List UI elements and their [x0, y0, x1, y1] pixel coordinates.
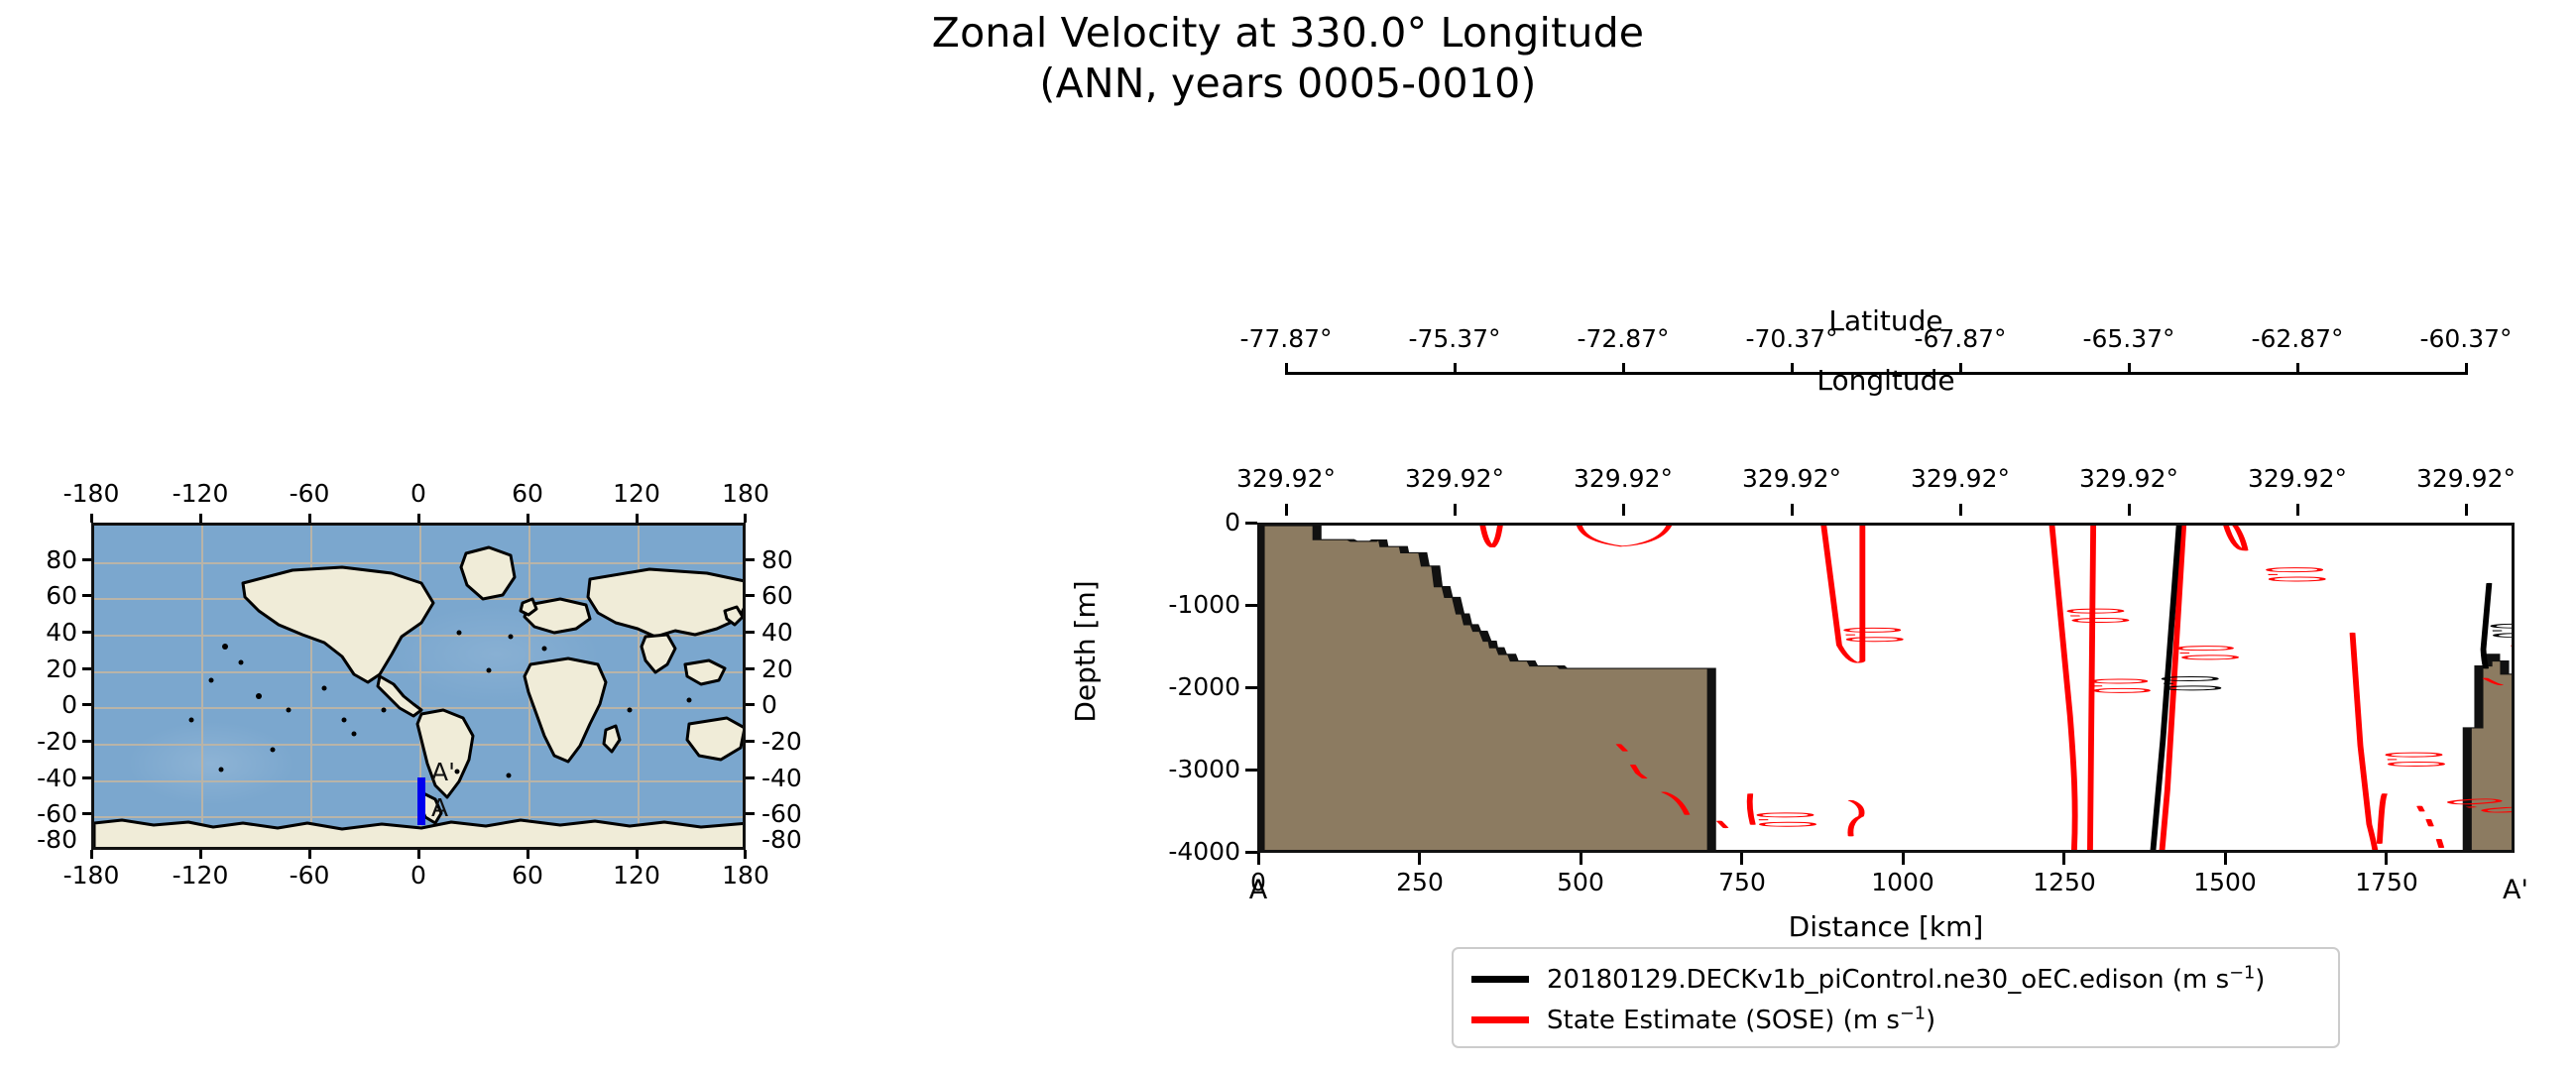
map-ytick-label-left: -80 — [0, 827, 77, 852]
map-ytick-label-left: 40 — [8, 620, 77, 645]
longitude-tick-label: 329.92° — [1216, 466, 1356, 491]
map-frame: A' A — [91, 523, 746, 850]
map-ytick-right — [746, 667, 755, 670]
map-ytick-label-left: 60 — [8, 583, 77, 608]
map-xtick-label-bottom: -180 — [37, 863, 146, 888]
transect-start-label: A — [431, 795, 448, 820]
map-ytick-right — [746, 703, 755, 706]
map-ytick-label-left: -20 — [0, 729, 77, 754]
map-ytick-label-left: -40 — [0, 766, 77, 790]
distance-tick — [1740, 853, 1743, 865]
map-ytick-label-left: -60 — [0, 801, 77, 826]
map-xtick-label-top: -180 — [37, 481, 146, 506]
map-xtick-top — [636, 514, 639, 523]
longitude-tick-label: 329.92° — [1890, 466, 2031, 491]
map-ytick-right — [746, 594, 755, 597]
legend-label-sose-exponent: −1 — [1900, 1004, 1926, 1023]
longitude-tick — [1454, 504, 1457, 516]
latitude-tick-label: -72.87° — [1553, 326, 1694, 351]
legend-label-model-exponent: −1 — [2229, 963, 2255, 983]
depth-tick-label: -1000 — [1107, 592, 1240, 617]
map-xtick-label-top: -120 — [146, 481, 255, 506]
map-xtick-bottom — [744, 850, 747, 859]
cross-section-plot: Latitude -77.87° -75.37° -72.87° -70.37°… — [1257, 523, 2515, 853]
longitude-tick — [1959, 504, 1962, 516]
contour-label: 0.0 — [2049, 608, 2146, 624]
distance-tick — [2224, 853, 2227, 865]
map-xtick-label-bottom: 180 — [691, 863, 800, 888]
map-ytick-label-right: 60 — [761, 583, 831, 608]
map-ytick-label-right: -80 — [761, 827, 831, 852]
map-xtick-bottom — [90, 850, 93, 859]
longitude-tick-label: 329.92° — [2396, 466, 2536, 491]
depth-tick — [1245, 686, 1257, 689]
contour-label: 0.0 — [2423, 796, 2515, 815]
page-title: Zonal Velocity at 330.0° Longitude (ANN,… — [0, 8, 2576, 109]
distance-tick — [1257, 853, 1260, 865]
map-ytick-label-right: 40 — [761, 620, 831, 645]
depth-tick — [1245, 522, 1257, 525]
map-ytick-left — [82, 776, 91, 779]
longitude-tick — [1285, 504, 1288, 516]
title-line-1: Zonal Velocity at 330.0° Longitude — [0, 8, 2576, 59]
section-axes-area: 0.0 0.0 0.0 0.0 0.0 0.0 0.0 0.0 0.0 0.0 … — [1257, 523, 2515, 853]
velocity-contours: 0.0 0.0 0.0 0.0 0.0 0.0 0.0 0.0 0.0 0.0 … — [1260, 526, 2515, 853]
map-ytick-label-right: 80 — [761, 547, 831, 572]
contour-label: 0.0 — [2158, 645, 2255, 660]
transect-line — [417, 777, 425, 825]
map-xtick-bottom — [636, 850, 639, 859]
distance-tick-label: 1000 — [1842, 870, 1963, 894]
map-ytick-right — [746, 631, 755, 634]
distance-tick-label: 500 — [1520, 870, 1641, 894]
depth-tick — [1245, 851, 1257, 854]
distance-tick — [2062, 853, 2065, 865]
contour-label: 0.0 — [2472, 623, 2515, 639]
legend-entry-model: 20180129.DECKv1b_piControl.ne30_oEC.edis… — [1471, 959, 2320, 1000]
distance-tick — [2385, 853, 2388, 865]
legend-label-model-suffix: ) — [2255, 965, 2265, 995]
latitude-tick-label: -67.87° — [1890, 326, 2031, 351]
contour-label: 0.0 — [2367, 752, 2460, 768]
map-xtick-label-bottom: 120 — [582, 863, 691, 888]
longitude-tick — [2465, 504, 2468, 516]
contour-label: 0.0 — [2248, 566, 2341, 582]
legend-label-sose-text: State Estimate (SOSE) (m s — [1547, 1006, 1900, 1035]
map-ytick-left — [82, 740, 91, 743]
distance-tick-label: 1500 — [2165, 870, 2285, 894]
legend-swatch-red — [1471, 1016, 1529, 1023]
map-xtick-label-bottom: -120 — [146, 863, 255, 888]
contour-labels: 0.0 0.0 0.0 0.0 0.0 0.0 0.0 0.0 0.0 0.0 … — [1738, 566, 2515, 827]
distance-tick — [1580, 853, 1582, 865]
distance-axis-title: Distance [km] — [1638, 912, 2134, 942]
contour-label: 0.0 — [2493, 643, 2515, 658]
map-xtick-label-top: 120 — [582, 481, 691, 506]
map-ytick-right — [746, 740, 755, 743]
world-map-inset: A' A -180 -120 -60 0 60 120 180 -180 -12… — [91, 523, 746, 850]
longitude-tick — [2296, 504, 2299, 516]
distance-tick — [1902, 853, 1905, 865]
map-ytick-left — [82, 594, 91, 597]
map-ytick-label-right: 0 — [761, 692, 831, 717]
distance-tick-label: 1250 — [2004, 870, 2125, 894]
latitude-tick-label: -62.87° — [2227, 326, 2368, 351]
title-line-2: (ANN, years 0005-0010) — [0, 59, 2576, 109]
legend-entry-sose: State Estimate (SOSE) (m s−1) — [1471, 1000, 2320, 1040]
map-xtick-label-top: -60 — [255, 481, 364, 506]
longitude-tick — [1791, 504, 1794, 516]
longitude-tick-label: 329.92° — [2227, 466, 2368, 491]
map-ytick-right — [746, 558, 755, 561]
distance-tick — [1418, 853, 1421, 865]
map-xtick-label-top: 60 — [473, 481, 582, 506]
map-xtick-top — [744, 514, 747, 523]
series-legend: 20180129.DECKv1b_piControl.ne30_oEC.edis… — [1452, 947, 2340, 1048]
longitude-axis-title: Longitude — [1638, 366, 2134, 396]
longitude-tick-label: 329.92° — [1553, 466, 1694, 491]
latitude-tick-label: -60.37° — [2396, 326, 2536, 351]
contour-label: 0.0 — [2144, 675, 2237, 691]
depth-tick — [1245, 604, 1257, 607]
longitude-tick — [2128, 504, 2131, 516]
contour-label: 0.0 — [1825, 627, 1919, 643]
map-ytick-label-right: 20 — [761, 656, 831, 681]
map-ytick-label-right: -60 — [761, 801, 831, 826]
map-ytick-left — [82, 667, 91, 670]
longitude-tick-label: 329.92° — [1384, 466, 1525, 491]
distance-tick-label: 250 — [1359, 870, 1480, 894]
map-ytick-left — [82, 703, 91, 706]
section-endpoint-start: A — [1198, 878, 1319, 902]
legend-label-model-text: 20180129.DECKv1b_piControl.ne30_oEC.edis… — [1547, 965, 2229, 995]
map-ytick-right — [746, 812, 755, 815]
distance-tick-label: 750 — [1682, 870, 1803, 894]
map-ytick-label-left: 20 — [8, 656, 77, 681]
latitude-tick-label: -70.37° — [1721, 326, 1862, 351]
map-ytick-label-right: -40 — [761, 766, 831, 790]
legend-label-sose-suffix: ) — [1926, 1006, 1935, 1035]
map-ytick-left — [82, 812, 91, 815]
map-xtick-label-bottom: 0 — [364, 863, 473, 888]
latitude-tick-label: -65.37° — [2058, 326, 2199, 351]
map-xtick-top — [199, 514, 202, 523]
map-xtick-label-top: 0 — [364, 481, 473, 506]
map-xtick-bottom — [527, 850, 529, 859]
longitude-tick-label: 329.92° — [1721, 466, 1862, 491]
longitude-tick — [1622, 504, 1625, 516]
map-xtick-label-bottom: 60 — [473, 863, 582, 888]
map-xtick-label-top: 180 — [691, 481, 800, 506]
depth-tick-label: -3000 — [1107, 757, 1240, 781]
latitude-tick-label: -75.37° — [1384, 326, 1525, 351]
section-endpoint-end: A' — [2455, 878, 2576, 902]
depth-tick-label: -2000 — [1107, 674, 1240, 699]
map-ytick-label-right: -20 — [761, 729, 831, 754]
map-xtick-bottom — [308, 850, 311, 859]
distance-tick-label: 1750 — [2326, 870, 2447, 894]
map-xtick-top — [527, 514, 529, 523]
map-xtick-bottom — [199, 850, 202, 859]
map-xtick-bottom — [417, 850, 420, 859]
map-xtick-top — [90, 514, 93, 523]
depth-tick-label: -4000 — [1107, 839, 1240, 864]
map-ytick-left — [82, 631, 91, 634]
map-ytick-left — [82, 558, 91, 561]
map-ytick-label-left: 0 — [8, 692, 77, 717]
legend-swatch-black — [1471, 976, 1529, 983]
depth-tick — [1245, 769, 1257, 772]
sose-contour-group — [1482, 526, 2501, 853]
map-xtick-top — [417, 514, 420, 523]
contour-label: 0.0 — [1738, 812, 1831, 828]
transect-end-label: A' — [431, 760, 455, 784]
map-xtick-top — [308, 514, 311, 523]
depth-axis-title: Depth [m] — [1071, 542, 1101, 761]
map-xtick-label-bottom: -60 — [255, 863, 364, 888]
map-ytick-right — [746, 776, 755, 779]
depth-tick-label: 0 — [1107, 510, 1240, 535]
map-ytick-label-left: 80 — [8, 547, 77, 572]
legend-label-sose: State Estimate (SOSE) (m s−1) — [1547, 1006, 1935, 1035]
longitude-tick-label: 329.92° — [2058, 466, 2199, 491]
legend-label-model: 20180129.DECKv1b_piControl.ne30_oEC.edis… — [1547, 965, 2265, 995]
latitude-tick-label: -77.87° — [1216, 326, 1356, 351]
